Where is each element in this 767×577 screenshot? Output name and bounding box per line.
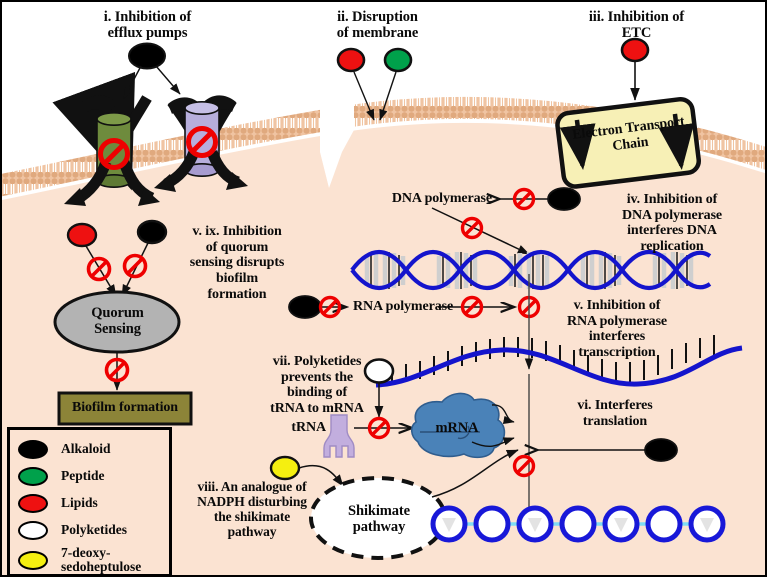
legend-swatch-deoxysedoheptulose <box>18 551 48 570</box>
legend: Alkaloid Peptide Lipids Polyketides 7-de… <box>7 427 172 577</box>
legend-swatch-lipids <box>18 494 48 513</box>
legend-item-polyketides: Polyketides <box>18 521 127 540</box>
legend-item-deoxysedoheptulose: 7-deoxy- sedoheptulose <box>18 546 141 574</box>
legend-label-lipids: Lipids <box>61 496 98 510</box>
label-ix: v. ix. Inhibition of quorum sensing disr… <box>173 224 301 302</box>
legend-swatch-alkaloid <box>18 440 48 459</box>
label-shikimate: Shikimate pathway <box>329 503 429 535</box>
legend-label-peptide: Peptide <box>61 469 105 483</box>
alkaloid-dot-dnapol <box>548 188 580 210</box>
label-ii: ii. Disruption of membrane <box>315 9 440 41</box>
figure-canvas: i. Inhibition of efflux pumps ii. Disrup… <box>0 0 767 577</box>
label-mrna: mRNA <box>426 420 488 436</box>
legend-swatch-polyketides <box>18 521 48 540</box>
legend-item-lipids: Lipids <box>18 494 98 513</box>
lipid-dot-quorum <box>68 224 96 246</box>
label-iv: iv. Inhibition of DNA polymerase interfe… <box>598 192 746 255</box>
label-vii: vii. Polyketides prevents the binding of… <box>256 354 378 417</box>
label-iii: iii. Inhibition of ETC <box>564 9 709 41</box>
label-biofilm-formation: Biofilm formation <box>59 400 191 416</box>
lipid-dot-membrane <box>338 49 364 71</box>
alkaloid-dot-translation <box>645 439 677 461</box>
legend-label-deoxysedoheptulose: 7-deoxy- sedoheptulose <box>61 546 141 574</box>
label-vi: vi. Interferes translation <box>549 398 681 429</box>
alkaloid-dot-quorum <box>138 221 166 243</box>
legend-label-polyketides: Polyketides <box>61 523 127 537</box>
label-trna: tRNA <box>270 420 326 436</box>
label-rna-polymerase: RNA polymerase <box>353 299 469 315</box>
legend-swatch-peptide <box>18 467 48 486</box>
label-v: v. Inhibition of RNA polymerase interfer… <box>547 298 687 361</box>
lipid-dot-etc <box>622 39 648 61</box>
label-quorum-sensing: Quorum Sensing <box>70 305 165 337</box>
label-dna-polymerase: DNA polymerase <box>380 191 492 207</box>
label-i: i. Inhibition of efflux pumps <box>75 9 220 41</box>
alkaloid-dot-efflux <box>129 44 165 69</box>
legend-item-alkaloid: Alkaloid <box>18 440 111 459</box>
peptide-dot-membrane <box>385 49 411 71</box>
label-viii: viii. An analogue of NADPH disturbing th… <box>182 479 322 539</box>
legend-label-alkaloid: Alkaloid <box>61 442 111 456</box>
legend-item-peptide: Peptide <box>18 467 105 486</box>
deoxysedoheptulose-dot <box>271 457 299 479</box>
